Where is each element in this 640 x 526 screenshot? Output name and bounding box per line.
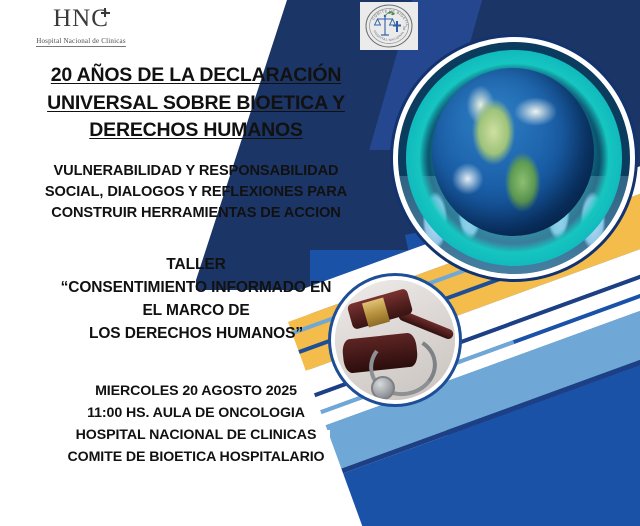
title-line-2: UNIVERSAL SOBRE BIOETICA Y — [47, 92, 345, 114]
subtitle-line-2: SOCIAL, DIALOGOS Y REFLEXIONES PARA — [45, 184, 347, 200]
earth-globe-in-hands-photo — [393, 37, 635, 279]
workshop-title-line-3: LOS DERECHOS HUMANOS” — [89, 325, 303, 342]
page-title: 20 AÑOS DE LA DECLARACIÓN UNIVERSAL SOBR… — [0, 62, 392, 145]
globe-image-inner — [398, 42, 630, 274]
subtitle-line-1: VULNERABILIDAD Y RESPONSABILIDAD — [54, 163, 339, 179]
subtitle-line-3: CONSTRUIR HERRAMIENTAS DE ACCION — [51, 205, 341, 221]
earth-sphere — [432, 68, 594, 236]
workshop-section: TALLER “CONSENTIMIENTO INFORMADO EN EL M… — [0, 253, 392, 346]
event-date: MIERCOLES 20 AGOSTO 2025 — [0, 380, 392, 402]
title-line-1: 20 AÑOS DE LA DECLARACIÓN — [51, 64, 341, 86]
workshop-label: TALLER — [0, 253, 392, 276]
poster-text-column: 20 AÑOS DE LA DECLARACIÓN UNIVERSAL SOBR… — [0, 0, 392, 468]
workshop-title: “CONSENTIMIENTO INFORMADO EN EL MARCO DE… — [0, 276, 392, 346]
event-venue: HOSPITAL NACIONAL DE CLINICAS — [0, 424, 392, 446]
event-time-place: 11:00 HS. AULA DE ONCOLOGIA — [0, 402, 392, 424]
poster-subtitle: VULNERABILIDAD Y RESPONSABILIDAD SOCIAL,… — [0, 161, 392, 224]
event-details: MIERCOLES 20 AGOSTO 2025 11:00 HS. AULA … — [0, 380, 392, 468]
title-line-3: DERECHOS HUMANOS — [89, 119, 302, 141]
event-organizer: COMITE DE BIOETICA HOSPITALARIO — [0, 446, 392, 468]
poster-canvas: HNC Hospital Nacional de Clinicas COMITE… — [0, 0, 640, 526]
workshop-title-line-1: “CONSENTIMIENTO INFORMADO EN — [61, 279, 332, 296]
workshop-title-line-2: EL MARCO DE — [142, 302, 249, 319]
